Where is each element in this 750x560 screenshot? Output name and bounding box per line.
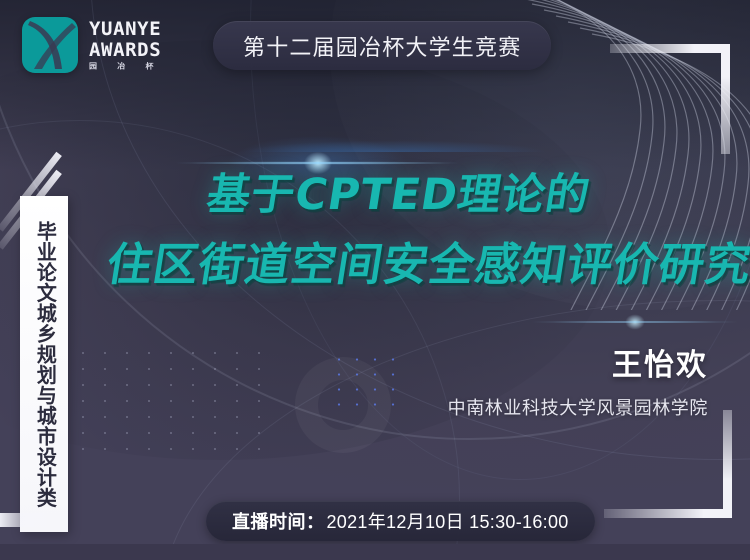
- brand-line-3-cn: 园 冶 杯: [89, 63, 162, 70]
- live-time-value: 2021年12月10日 15:30-16:00: [327, 508, 569, 534]
- corner-bracket-top-right-icon: [610, 44, 730, 154]
- brand-line-1: YUANYE: [89, 20, 162, 39]
- presenter-organization: 中南林业科技大学风景园林学院: [448, 394, 708, 420]
- title-line-2: 住区街道空间安全感知评价研究: [0, 228, 750, 293]
- competition-badge: 第十二届园冶杯大学生竞赛: [213, 21, 551, 70]
- dot-grid-pattern: [72, 345, 272, 457]
- footer-tick-mark: [0, 513, 46, 527]
- yuanye-y-mark-icon: [22, 17, 78, 73]
- corner-bracket-bottom-right-icon: [604, 410, 732, 518]
- live-time-badge: 直播时间： 2021年12月10日 15:30-16:00: [206, 501, 595, 541]
- dot-grid-pattern-blue: [330, 352, 400, 414]
- title-line-1: 基于CPTED理论的: [0, 160, 750, 222]
- presenter-name: 王怡欢: [448, 340, 708, 384]
- title-glow: [180, 118, 610, 152]
- competition-badge-label: 第十二届园冶杯大学生竞赛: [243, 30, 521, 62]
- live-time-label: 直播时间：: [232, 508, 325, 534]
- presenter-block: 王怡欢 中南林业科技大学风景园林学院: [448, 340, 708, 420]
- page-title: 基于CPTED理论的 住区街道空间安全感知评价研究: [0, 160, 750, 293]
- brand-line-2: AWARDS: [89, 41, 162, 60]
- poster-canvas: 毕业论文城乡规划与城市设计类 YUANYE AWARDS 园 冶 杯 第十二届园…: [0, 0, 750, 560]
- brand-logo[interactable]: YUANYE AWARDS 园 冶 杯: [22, 17, 162, 73]
- brand-wordmark: YUANYE AWARDS 园 冶 杯: [89, 20, 162, 71]
- footer-strip: [0, 544, 750, 560]
